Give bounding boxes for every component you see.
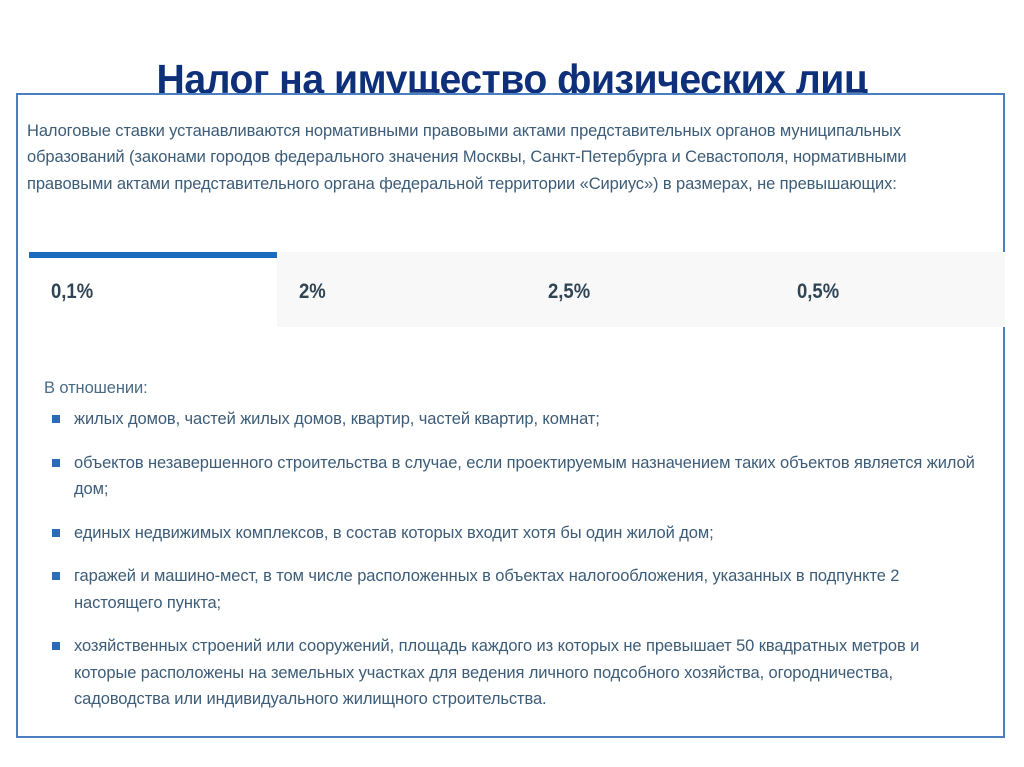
tab-rate-2[interactable]: 2% [277, 252, 526, 327]
list-item: хозяйственных строений или сооружений, п… [44, 633, 984, 713]
list-item: объектов незавершенного строительства в … [44, 450, 984, 503]
tab-rate-2-5[interactable]: 2,5% [526, 252, 775, 327]
list-lead-in: В отношении: [44, 376, 148, 400]
list-item: единых недвижимых комплексов, в состав к… [44, 520, 984, 547]
list-item: гаражей и машино-мест, в том числе распо… [44, 563, 984, 616]
tab-rate-0-1[interactable]: 0,1% [29, 252, 277, 327]
active-tab-indicator [29, 252, 277, 258]
list-item-text: объектов незавершенного строительства в … [74, 454, 975, 499]
square-bullet-icon [52, 572, 60, 580]
intro-paragraph: Налоговые ставки устанавливаются нормати… [27, 118, 990, 198]
square-bullet-icon [52, 459, 60, 467]
tab-rate-2-label: 2% [299, 280, 326, 304]
tax-rate-tabs: 0,1% 2% 2,5% 0,5% [29, 252, 1005, 327]
tab-rate-2-5-label: 2,5% [548, 280, 590, 304]
tab-rate-0-5-label: 0,5% [797, 280, 839, 304]
square-bullet-icon [52, 642, 60, 650]
list-item-text: жилых домов, частей жилых домов, квартир… [74, 410, 600, 428]
list-item-text: единых недвижимых комплексов, в состав к… [74, 524, 714, 542]
list-item: жилых домов, частей жилых домов, квартир… [44, 406, 984, 433]
square-bullet-icon [52, 529, 60, 537]
content-card: Налоговые ставки устанавливаются нормати… [16, 93, 1005, 738]
list-item-text: хозяйственных строений или сооружений, п… [74, 637, 919, 708]
list-item-text: гаражей и машино-мест, в том числе распо… [74, 567, 899, 612]
property-types-list: жилых домов, частей жилых домов, квартир… [44, 406, 984, 713]
square-bullet-icon [52, 415, 60, 423]
tab-rate-0-5[interactable]: 0,5% [775, 252, 1005, 327]
tab-rate-0-1-label: 0,1% [51, 280, 93, 304]
